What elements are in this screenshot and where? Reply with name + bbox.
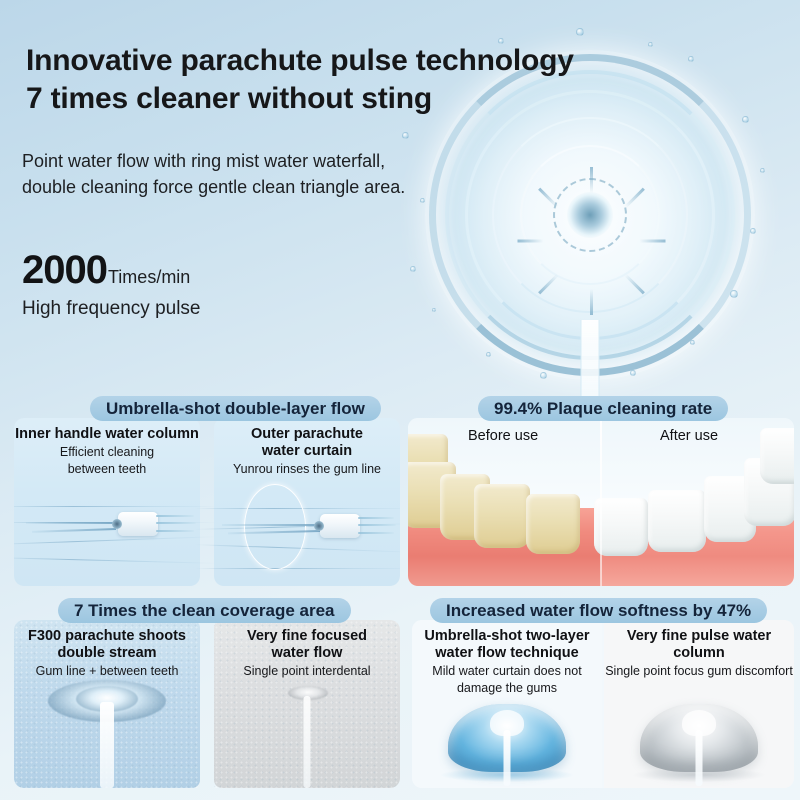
water-droplet xyxy=(688,56,694,62)
water-droplet xyxy=(432,308,436,312)
splash-spike xyxy=(590,167,593,193)
pill-umbrella-flow: Umbrella-shot double-layer flow xyxy=(90,396,381,421)
splash-spike xyxy=(624,274,645,295)
headline-line-1: Innovative parachute pulse technology xyxy=(26,42,666,80)
caption-inner-handle: Inner handle water column Efficient clea… xyxy=(14,426,200,477)
caption-sub-1: Efficient cleaning xyxy=(14,445,200,460)
caption-pulse-column: Very fine pulse water column Single poin… xyxy=(604,628,794,679)
caption-title-2: water flow xyxy=(214,645,400,662)
water-droplet xyxy=(630,370,636,376)
water-column-single xyxy=(304,696,311,788)
caption-double-stream: F300 parachute shoots double stream Gum … xyxy=(14,628,200,679)
water-droplet xyxy=(410,266,416,272)
hero-subcopy: Point water flow with ring mist water wa… xyxy=(22,148,472,200)
splash-core xyxy=(567,192,613,238)
frequency-stat: 2000 Times/min xyxy=(22,248,190,293)
subpanel-focused-flow: Very fine focused water flow Single poin… xyxy=(214,620,400,788)
before-after-divider xyxy=(600,418,602,586)
water-droplet xyxy=(750,228,756,234)
caption-two-layer: Umbrella-shot two-layer water flow techn… xyxy=(412,628,602,696)
splash-ring-edge-3 xyxy=(465,90,715,340)
water-droplet xyxy=(540,372,547,379)
gel-stem-clear xyxy=(696,730,703,786)
splash-crown xyxy=(553,178,627,252)
caption-title-1: F300 parachute shoots xyxy=(14,628,200,645)
subcopy-line-2: double cleaning force gentle clean trian… xyxy=(22,174,472,200)
caption-title-2: double stream xyxy=(14,645,200,662)
splash-spike xyxy=(640,240,666,243)
splash-spike xyxy=(518,240,544,243)
splash-ring-edge-4 xyxy=(492,117,688,313)
caption-title-1: Umbrella-shot two-layer xyxy=(412,628,602,645)
water-droplet xyxy=(402,132,409,139)
caption-sub: Single point interdental xyxy=(214,664,400,679)
caption-title-2: column xyxy=(604,645,794,662)
subpanel-two-layer-technique: Umbrella-shot two-layer water flow techn… xyxy=(412,620,602,788)
label-after-use: After use xyxy=(660,428,718,444)
splash-spike xyxy=(538,188,559,209)
water-curtain-shape xyxy=(244,484,306,570)
splash-spike xyxy=(538,274,559,295)
pill-coverage-area: 7 Times the clean coverage area xyxy=(58,598,351,623)
frequency-value: 2000 xyxy=(22,248,107,293)
pill-plaque-rate: 99.4% Plaque cleaning rate xyxy=(478,396,728,421)
hero-headline: Innovative parachute pulse technology 7 … xyxy=(26,42,666,118)
caption-sub-2: damage the gums xyxy=(412,681,602,696)
tooth-before xyxy=(474,484,530,548)
water-droplet xyxy=(760,168,765,173)
caption-focused-flow: Very fine focused water flow Single poin… xyxy=(214,628,400,679)
caption-sub: Single point focus gum discomfort xyxy=(604,664,794,679)
caption-title-2: water curtain xyxy=(214,443,400,460)
caption-sub-2: between teeth xyxy=(14,462,200,477)
water-column-double xyxy=(100,702,114,788)
splash-spike xyxy=(624,188,645,209)
tooth-before xyxy=(526,494,580,554)
tooth-after xyxy=(648,490,706,552)
panel-plaque-comparison: Before use After use xyxy=(408,418,794,586)
caption-title-1: Outer parachute xyxy=(214,426,400,443)
caption-title-2: water flow technique xyxy=(412,645,602,662)
water-droplet xyxy=(486,352,491,357)
caption-title-1: Very fine pulse water xyxy=(604,628,794,645)
caption-title: Inner handle water column xyxy=(14,426,200,443)
frequency-unit: Times/min xyxy=(108,267,190,288)
splash-spike xyxy=(590,289,593,315)
headline-line-2: 7 times cleaner without sting xyxy=(26,80,666,118)
nozzle-tip-inner xyxy=(118,512,158,536)
subcopy-line-1: Point water flow with ring mist water wa… xyxy=(22,148,472,174)
panel-coverage-comparison: F300 parachute shoots double stream Gum … xyxy=(14,620,400,788)
nozzle-tip-outer xyxy=(320,514,360,538)
pulse-label: High frequency pulse xyxy=(22,298,201,320)
panel-umbrella-flow: Inner handle water column Efficient clea… xyxy=(14,418,400,586)
caption-sub: Yunrou rinses the gum line xyxy=(214,462,400,477)
water-droplet xyxy=(690,340,695,345)
poster-root: Innovative parachute pulse technology 7 … xyxy=(0,0,800,800)
subpanel-pulse-column: Very fine pulse water column Single poin… xyxy=(604,620,794,788)
label-before-use: Before use xyxy=(468,428,538,444)
splash-ring-edge-5 xyxy=(520,145,660,285)
water-droplet xyxy=(576,28,584,36)
subpanel-inner-handle-column: Inner handle water column Efficient clea… xyxy=(14,418,200,586)
caption-sub-1: Mild water curtain does not xyxy=(412,664,602,679)
subpanel-double-stream: F300 parachute shoots double stream Gum … xyxy=(14,620,200,788)
pill-softness: Increased water flow softness by 47% xyxy=(430,598,767,623)
caption-title-1: Very fine focused xyxy=(214,628,400,645)
caption-sub: Gum line + between teeth xyxy=(14,664,200,679)
subpanel-outer-parachute-curtain: Outer parachute water curtain Yunrou rin… xyxy=(214,418,400,586)
tooth-after xyxy=(594,498,648,556)
tooth-after xyxy=(760,428,794,484)
water-droplet xyxy=(742,116,749,123)
water-droplet xyxy=(730,290,738,298)
panel-softness-comparison: Umbrella-shot two-layer water flow techn… xyxy=(412,620,794,788)
caption-outer-parachute: Outer parachute water curtain Yunrou rin… xyxy=(214,426,400,477)
gel-stem-blue xyxy=(504,730,511,786)
